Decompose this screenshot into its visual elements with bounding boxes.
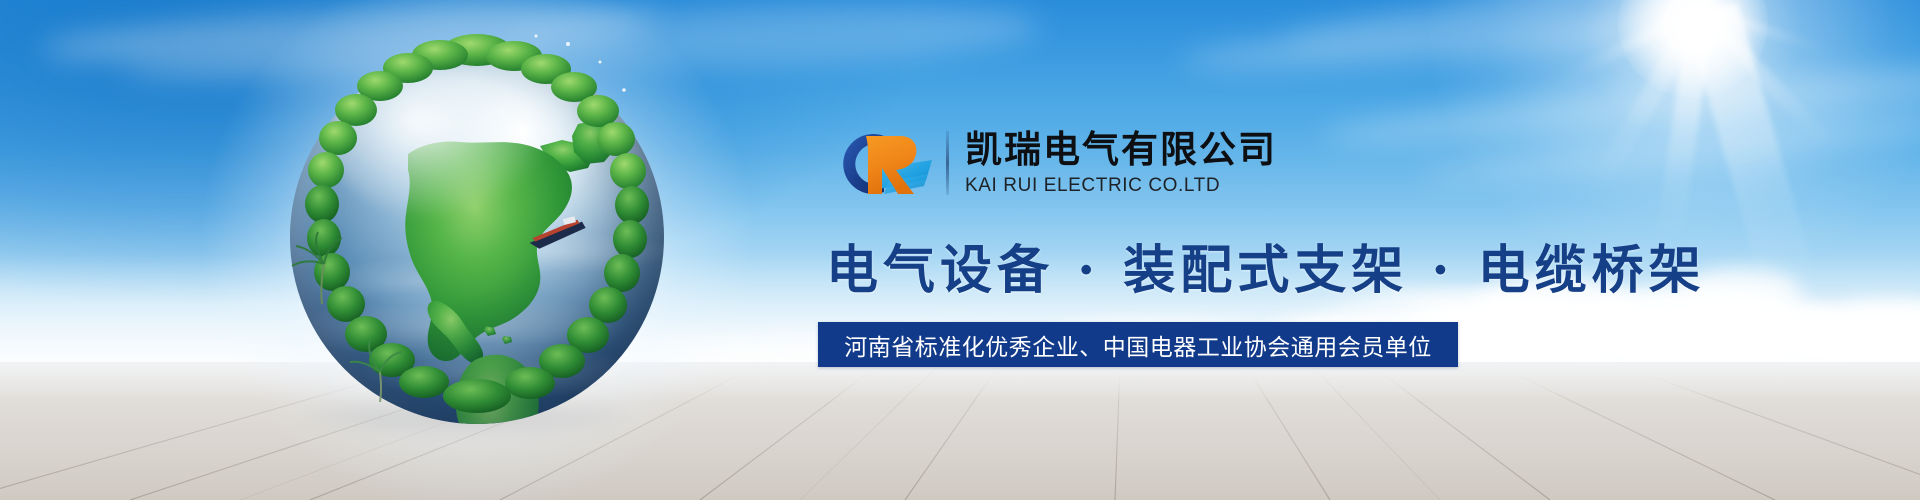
- brand-text: 凯瑞电气有限公司 KAI RUI ELECTRIC CO.LTD: [965, 129, 1277, 197]
- honors-badge-text: 河南省标准化优秀企业、中国电器工业协会通用会员单位: [844, 328, 1432, 362]
- honors-badge: 河南省标准化优秀企业、中国电器工业协会通用会员单位: [818, 322, 1458, 367]
- banner-content: 凯瑞电气有限公司 KAI RUI ELECTRIC CO.LTD 电气设备 · …: [0, 0, 1920, 500]
- company-name-cn: 凯瑞电气有限公司: [965, 129, 1277, 170]
- main-tagline: 电气设备 · 装配式支架 · 电缆桥架: [826, 228, 1706, 303]
- logo-divider: [946, 131, 949, 195]
- hero-banner: 凯瑞电气有限公司 KAI RUI ELECTRIC CO.LTD 电气设备 · …: [0, 0, 1920, 500]
- cr-monogram-logo[interactable]: [822, 124, 940, 202]
- company-name-en: KAI RUI ELECTRIC CO.LTD: [965, 175, 1277, 197]
- brand-lockup[interactable]: 凯瑞电气有限公司 KAI RUI ELECTRIC CO.LTD: [822, 124, 1277, 202]
